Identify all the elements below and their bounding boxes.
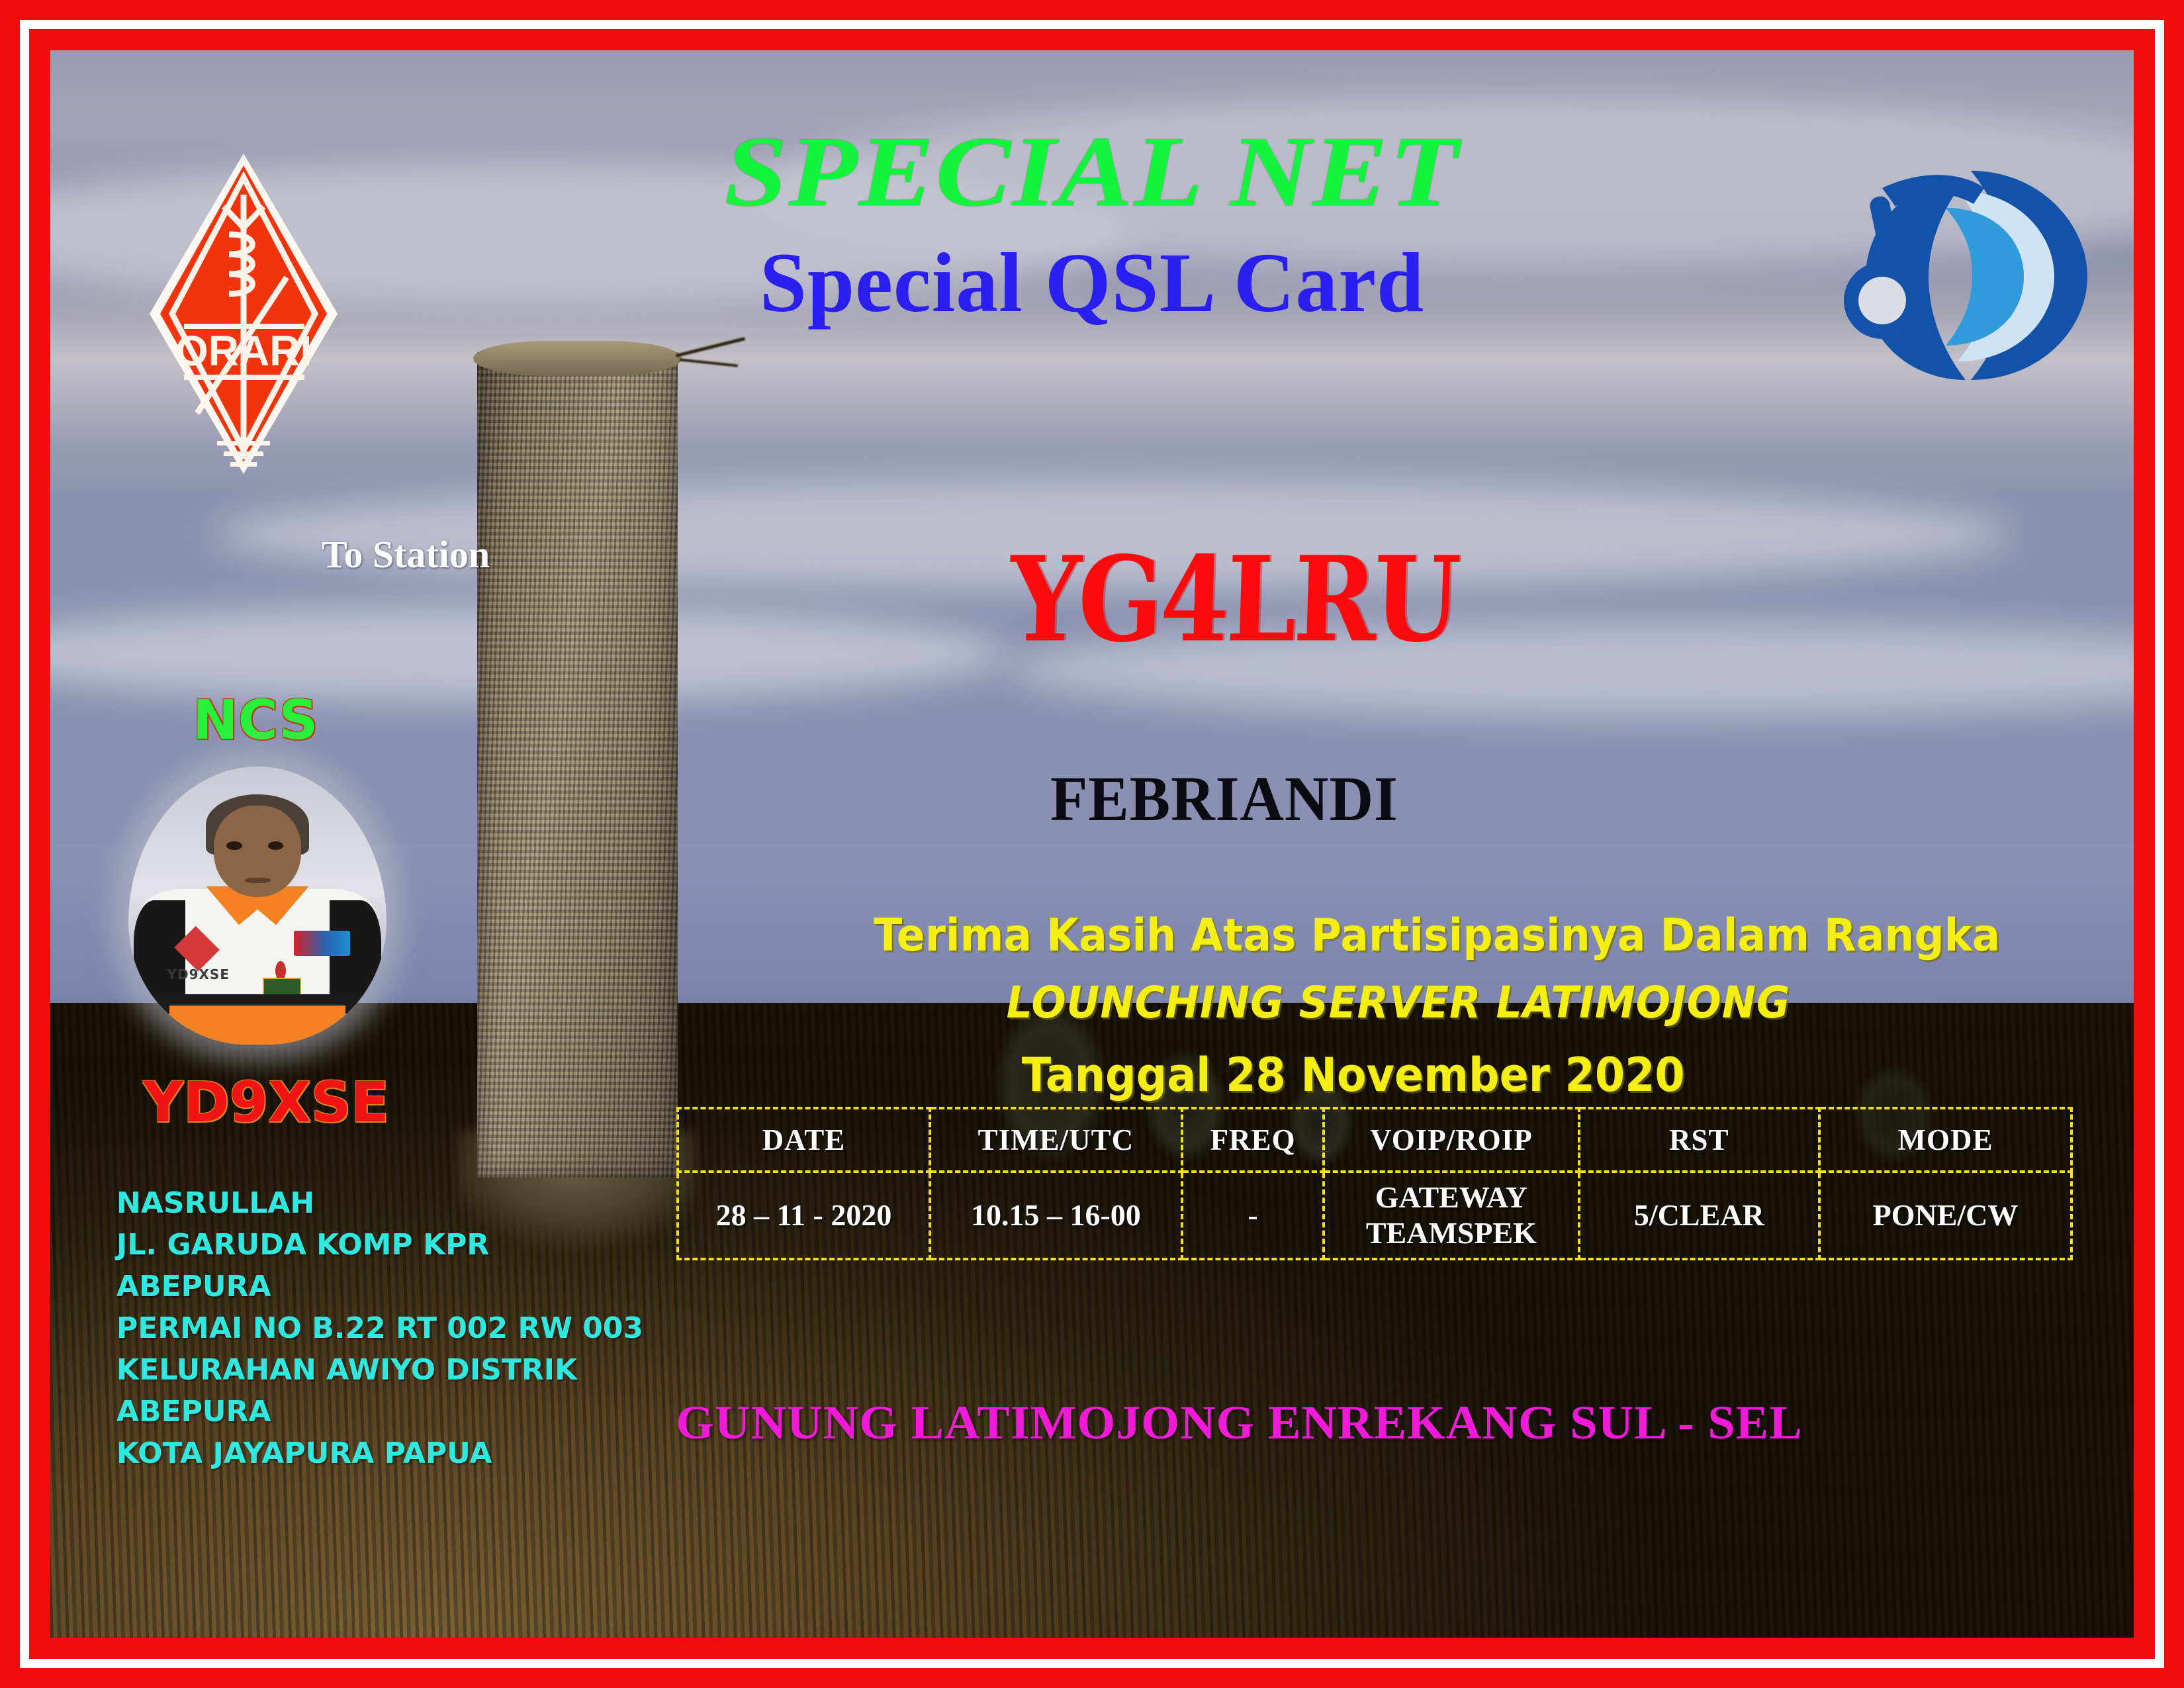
cell-rst: 5/CLEAR (1579, 1172, 1819, 1259)
qsl-card: ORARI SPECIAL NET Special QSL Card (0, 0, 2184, 1688)
photo-sash (169, 1006, 345, 1045)
column-header-rst: RST (1579, 1108, 1819, 1172)
column-header-time: TIME/UTC (930, 1108, 1182, 1172)
to-station-label: To Station (322, 532, 490, 577)
cell-freq: - (1182, 1172, 1324, 1259)
photo-eye-left (226, 841, 242, 850)
thanks-line-2: LOUNCHING SERVER LATIMOJONG (1007, 977, 1791, 1028)
column-header-voip-roip: VOIP/ROIP (1324, 1108, 1578, 1172)
cell-time: 10.15 – 16-00 (930, 1172, 1182, 1259)
photo-shirt-callsign: YD9XSE (167, 966, 230, 982)
photo-chest-logo (294, 931, 351, 956)
address-line: JL. GARUDA KOMP KPR (116, 1224, 643, 1266)
photo-eye-right (268, 841, 283, 850)
ncs-address-block: NASRULLAH JL. GARUDA KOMP KPR ABEPURA PE… (116, 1182, 643, 1474)
address-line: KOTA JAYAPURA PAPUA (116, 1432, 643, 1474)
card-photo-scene: ORARI SPECIAL NET Special QSL Card (50, 50, 2134, 1638)
column-header-date: DATE (678, 1108, 930, 1172)
station-callsign: YG4LRU (1008, 531, 1460, 669)
cell-date: 28 – 11 - 2020 (678, 1172, 930, 1259)
cell-mode: PONE/CW (1819, 1172, 2071, 1259)
table-row: 28 – 11 - 2020 10.15 – 16-00 - GATEWAYTE… (678, 1172, 2071, 1259)
page-title: SPECIAL NET (50, 114, 2134, 229)
address-line: PERMAI NO B.22 RT 002 RW 003 (116, 1307, 643, 1349)
address-line: NASRULLAH (116, 1182, 643, 1224)
column-header-mode: MODE (1819, 1108, 2071, 1172)
stone-pillar-top (473, 341, 682, 376)
column-header-freq: FREQ (1182, 1108, 1324, 1172)
page-subtitle: Special QSL Card (50, 234, 2134, 332)
address-line: ABEPURA (116, 1391, 643, 1432)
ncs-badge: NCS (193, 689, 318, 752)
photo-mouth (245, 878, 271, 883)
stone-pillar (477, 352, 677, 1178)
orari-logo-text: ORARI (175, 327, 312, 375)
footer-motto: "AMATIR RADIO ADALAH PROGRESIVE" (154, 1628, 1093, 1638)
footer-web-address: Address : amatir.latimojong.com (1318, 1628, 1970, 1638)
cell-voip-roip: GATEWAYTEAMSPEK (1324, 1172, 1578, 1259)
table-header-row: DATE TIME/UTC FREQ VOIP/ROIP RST MODE (678, 1108, 2071, 1172)
qso-details-table: DATE TIME/UTC FREQ VOIP/ROIP RST MODE 28… (676, 1107, 2073, 1260)
thanks-line-1: Terima Kasih Atas Partisipasinya Dalam R… (874, 910, 2000, 962)
address-line: KELURAHAN AWIYO DISTRIK (116, 1349, 643, 1391)
location-label: GUNUNG LATIMOJONG ENREKANG SUL - SEL (676, 1395, 1802, 1450)
thanks-line-3: Tanggal 28 November 2020 (1022, 1048, 1685, 1102)
address-line: ABEPURA (116, 1266, 643, 1307)
photo-face (214, 806, 302, 898)
operator-name: FEBRIANDI (1050, 762, 1398, 835)
ncs-operator-photo: YD9XSE (128, 767, 387, 1045)
ncs-callsign: YD9XSE (143, 1070, 389, 1135)
photo-shoulder-left (134, 900, 185, 1006)
